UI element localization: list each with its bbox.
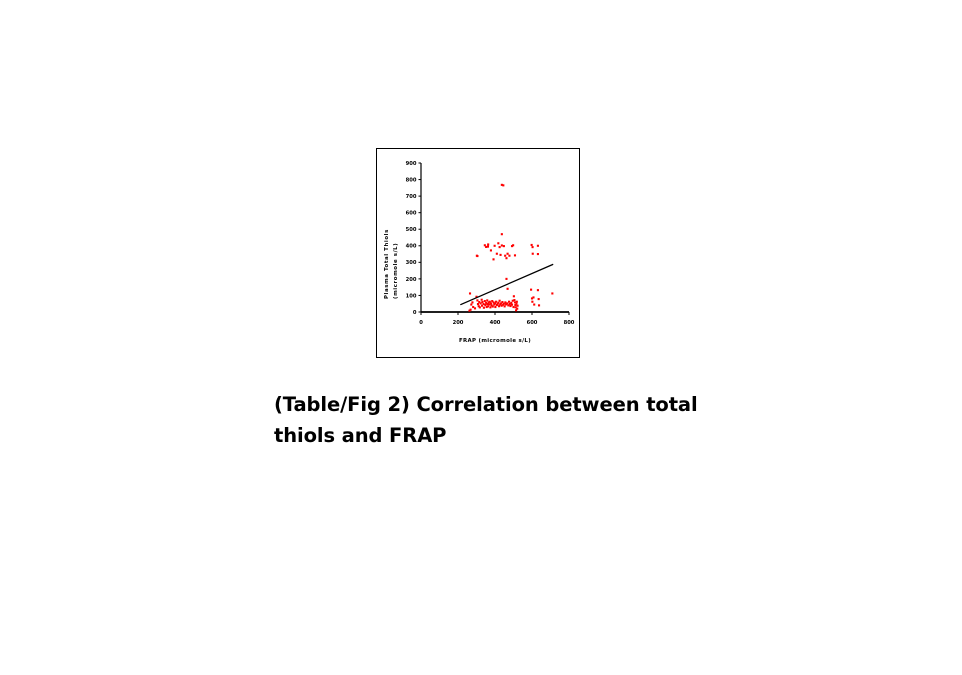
data-point xyxy=(512,244,514,246)
data-point xyxy=(551,292,553,294)
x-tick-label: 400 xyxy=(490,320,501,326)
data-point xyxy=(494,306,496,308)
data-point xyxy=(516,301,518,303)
data-point xyxy=(513,295,515,297)
data-point xyxy=(487,246,489,248)
data-point xyxy=(490,249,492,251)
data-point xyxy=(532,246,534,248)
data-point xyxy=(508,301,510,303)
data-point xyxy=(538,304,540,306)
data-point xyxy=(512,306,514,308)
data-point xyxy=(513,299,515,301)
data-point xyxy=(505,278,507,280)
data-point xyxy=(470,309,472,311)
data-point xyxy=(495,301,497,303)
data-point xyxy=(471,301,473,303)
y-axis-title-line-2: (micromole s/L) xyxy=(393,243,399,299)
data-point xyxy=(483,307,485,309)
figure-frame: 0100200300400500600700800900 02004006008… xyxy=(376,148,580,358)
data-point xyxy=(479,306,481,308)
y-tick-label: 700 xyxy=(406,194,417,200)
data-point xyxy=(516,308,518,310)
data-point xyxy=(504,255,506,257)
data-point xyxy=(474,307,476,309)
data-point xyxy=(484,300,486,302)
data-point xyxy=(497,242,499,244)
y-tick-label: 800 xyxy=(406,177,417,183)
data-point xyxy=(531,244,533,246)
data-point xyxy=(499,300,501,302)
data-point xyxy=(532,296,534,298)
data-point xyxy=(499,246,501,248)
data-point xyxy=(484,304,486,306)
data-point xyxy=(502,184,504,186)
data-point xyxy=(506,302,508,304)
data-point xyxy=(477,303,479,305)
y-tick-label: 100 xyxy=(406,293,417,299)
y-tick-label: 600 xyxy=(406,211,417,217)
data-point xyxy=(490,302,492,304)
y-tick-label: 400 xyxy=(406,244,417,250)
data-point xyxy=(485,246,487,248)
data-point xyxy=(469,292,471,294)
data-point xyxy=(482,303,484,305)
data-point xyxy=(480,302,482,304)
data-point xyxy=(504,305,506,307)
data-point xyxy=(500,254,502,256)
data-point xyxy=(537,289,539,291)
data-point xyxy=(533,304,535,306)
data-point xyxy=(530,289,532,291)
data-point xyxy=(531,301,533,303)
y-tick-label: 900 xyxy=(406,161,417,167)
y-axis-title-line-1: Plasma Total Thiols xyxy=(384,229,390,299)
data-point xyxy=(508,255,510,257)
data-point xyxy=(503,245,505,247)
x-tick-label: 800 xyxy=(564,320,575,326)
data-point xyxy=(492,305,494,307)
y-tick-label: 0 xyxy=(413,310,417,316)
data-point xyxy=(487,305,489,307)
data-point xyxy=(472,306,474,308)
data-point xyxy=(505,257,507,259)
figure-caption-line-2: thiols and FRAP xyxy=(274,420,744,451)
data-point xyxy=(497,302,499,304)
data-point xyxy=(504,301,506,303)
data-point xyxy=(515,303,517,305)
figure-caption-line-1: (Table/Fig 2) Correlation between total xyxy=(274,389,744,420)
data-point xyxy=(507,253,509,255)
data-point xyxy=(487,243,489,245)
data-point xyxy=(501,233,503,235)
data-point xyxy=(514,254,516,256)
data-point xyxy=(517,305,519,307)
data-point xyxy=(538,298,540,300)
y-tick-label: 200 xyxy=(406,277,417,283)
data-point xyxy=(489,306,491,308)
data-point xyxy=(537,253,539,255)
data-point xyxy=(492,258,494,260)
data-point xyxy=(510,302,512,304)
data-point xyxy=(496,253,498,255)
data-point xyxy=(481,299,483,301)
data-point xyxy=(501,244,503,246)
data-point xyxy=(476,255,478,257)
data-point xyxy=(507,288,509,290)
data-point xyxy=(470,304,472,306)
y-tick-label: 300 xyxy=(406,260,417,266)
x-tick-label: 600 xyxy=(527,320,538,326)
data-point xyxy=(476,299,478,301)
y-tick-label: 500 xyxy=(406,227,417,233)
x-tick-label: 200 xyxy=(453,320,464,326)
data-point xyxy=(511,304,513,306)
figure-caption: (Table/Fig 2) Correlation between total … xyxy=(274,389,744,451)
data-point xyxy=(486,299,488,301)
data-point xyxy=(537,245,539,247)
data-point xyxy=(532,253,534,255)
data-point xyxy=(481,301,483,303)
x-axis-title: FRAP (micromole s/L) xyxy=(459,338,531,344)
scatter-chart: 0100200300400500600700800900 02004006008… xyxy=(377,149,579,357)
x-tick-label: 0 xyxy=(419,320,423,326)
data-point xyxy=(494,245,496,247)
